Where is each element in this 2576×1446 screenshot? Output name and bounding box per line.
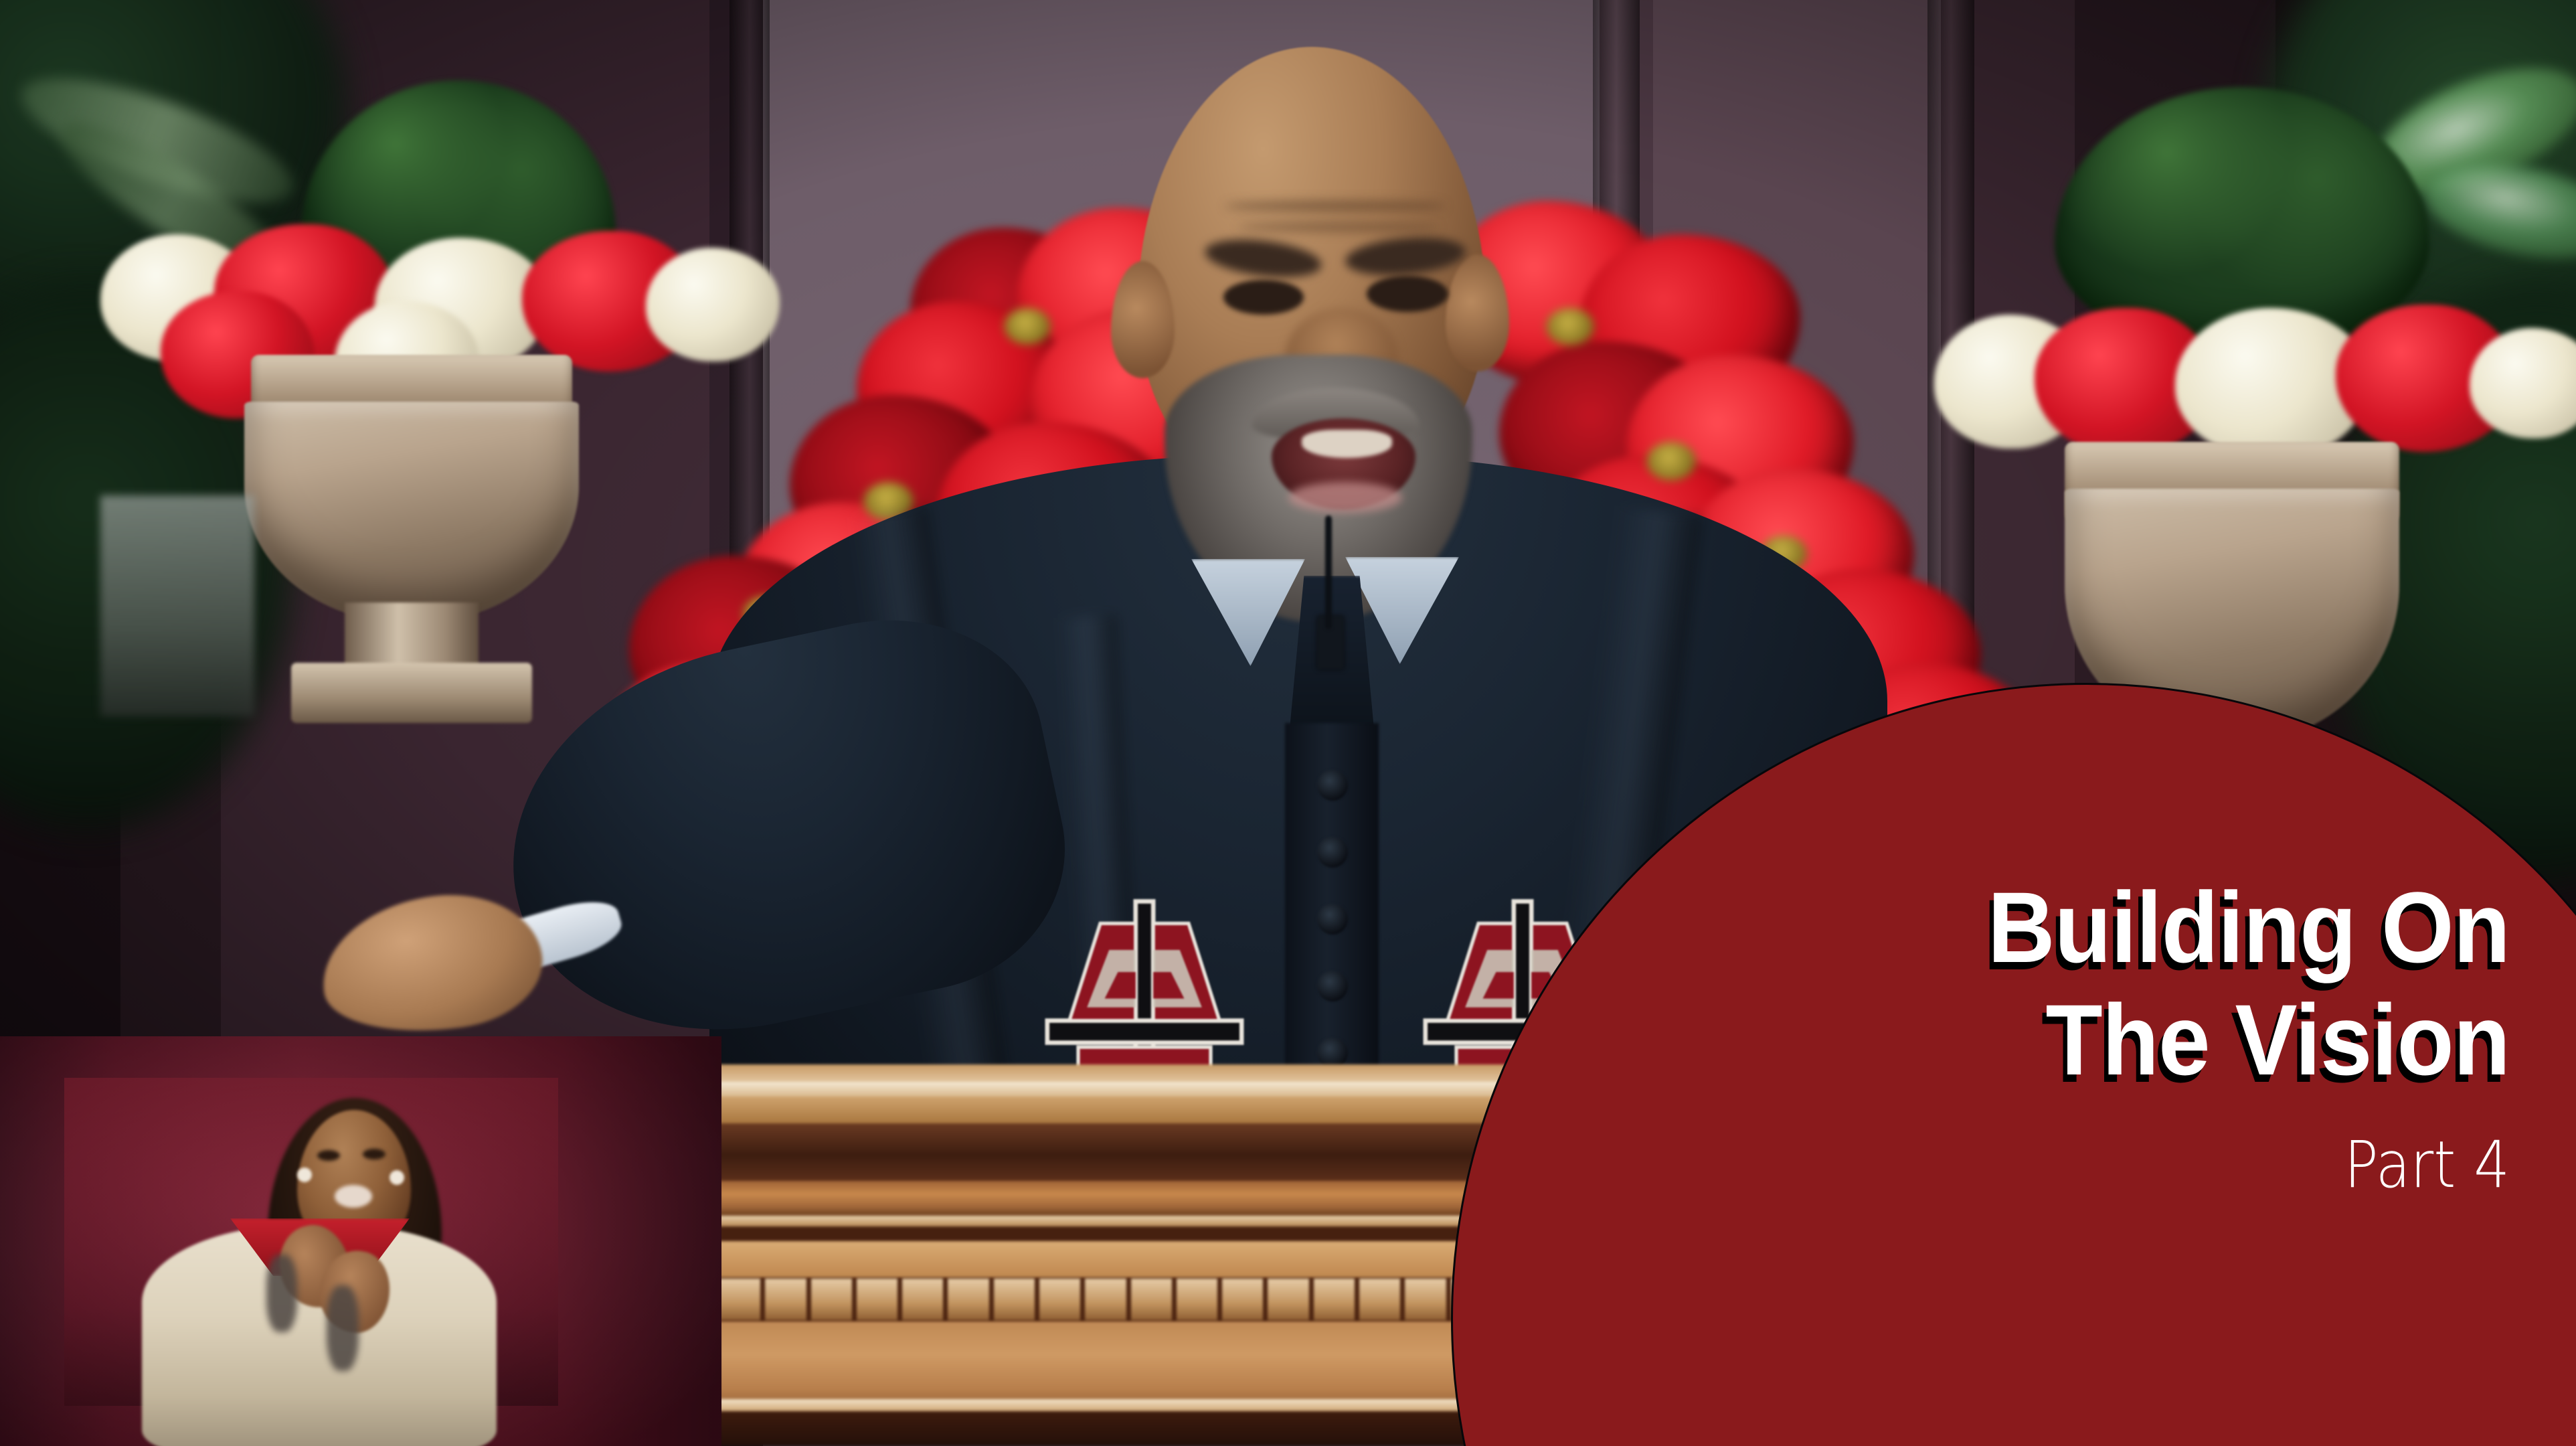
interpreter-earring-left bbox=[297, 1168, 312, 1182]
interpreter-shadow-1 bbox=[266, 1255, 297, 1332]
forehead-furrow-2 bbox=[1238, 222, 1439, 232]
teeth bbox=[1302, 430, 1392, 458]
interpreter-shadow-2 bbox=[327, 1285, 359, 1371]
interpreter-earring-right bbox=[390, 1170, 404, 1185]
robe-button-1 bbox=[1317, 770, 1348, 801]
metal-stand bbox=[100, 495, 254, 716]
robe-button-3 bbox=[1317, 904, 1348, 935]
title-line-2: The Vision bbox=[1682, 989, 2510, 1090]
title-block: Building On The Vision Part 4 bbox=[1620, 877, 2510, 1197]
lower-lip bbox=[1288, 482, 1402, 513]
interpreter-eye-right bbox=[363, 1149, 385, 1159]
title-subtitle: Part 4 bbox=[1727, 1133, 2510, 1197]
sign-language-inset[interactable] bbox=[0, 1036, 721, 1446]
title-line-1: Building On bbox=[1682, 877, 2510, 977]
robe-button-4 bbox=[1317, 971, 1348, 1001]
broadcast-frame: Building On The Vision Part 4 bbox=[0, 0, 2576, 1446]
forehead-furrow-1 bbox=[1225, 201, 1446, 212]
eye-left bbox=[1223, 280, 1304, 315]
robe-button-2 bbox=[1317, 837, 1348, 868]
lapel-mic-cable bbox=[1325, 515, 1332, 629]
eye-right bbox=[1367, 276, 1448, 312]
interpreter-mouth bbox=[335, 1185, 372, 1208]
interpreter-eye-left bbox=[317, 1150, 340, 1161]
